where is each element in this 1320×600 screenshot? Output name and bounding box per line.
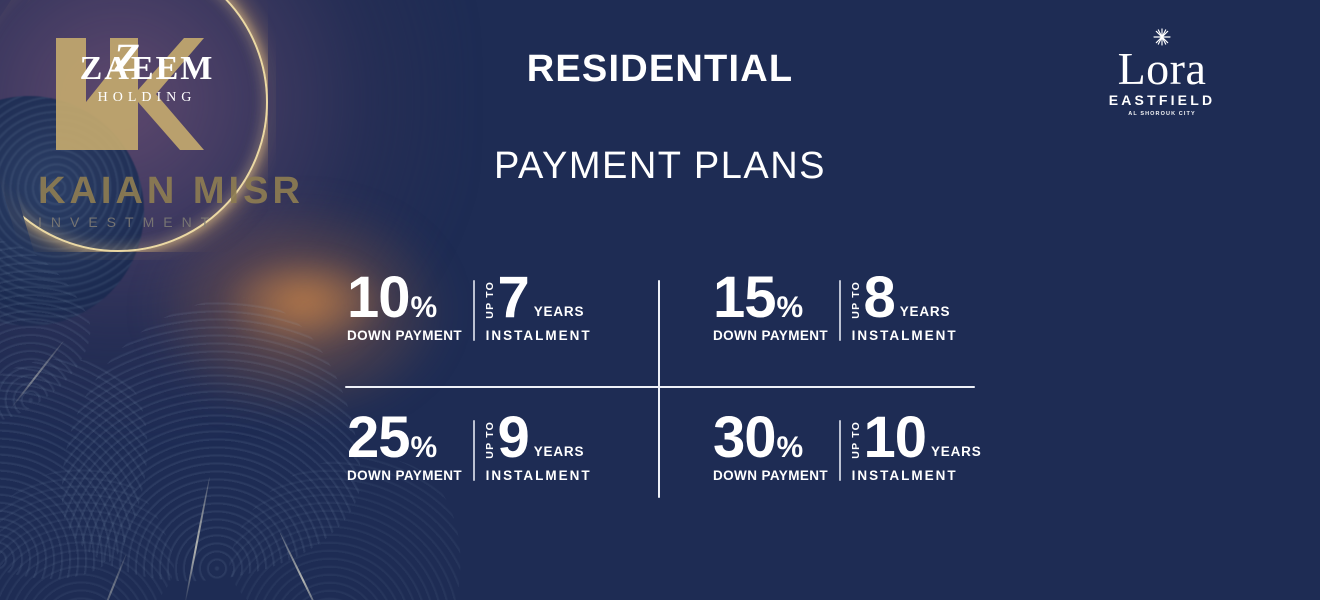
up-to-label: UP TO <box>486 281 495 319</box>
palm-leaf-icon <box>0 450 185 600</box>
project-location: AL SHOROUK CITY <box>1072 111 1252 117</box>
down-payment-value: 25 % <box>347 414 462 463</box>
project-logo-lora-eastfield: Lora EASTFIELD AL SHOROUK CITY <box>1072 28 1252 117</box>
leaf-stem <box>10 341 64 410</box>
down-payment-label: DOWN PAYMENT <box>347 328 462 343</box>
kaian-misr-sub: INVESTMENT <box>38 214 288 230</box>
down-payment-percent: 30 <box>713 414 776 463</box>
percent-sign: % <box>777 435 804 460</box>
palm-leaf-icon <box>0 214 113 449</box>
payment-plans-slide: Z ZAEEM HOLDING KAIAN MISR INVESTMENT RE… <box>0 0 1320 600</box>
instalment-value: UP TO 10 YEARS <box>852 414 982 463</box>
down-payment-label: DOWN PAYMENT <box>713 468 828 483</box>
years-word: YEARS <box>534 306 585 317</box>
down-payment-block: 15 % DOWN PAYMENT <box>713 274 828 343</box>
down-payment-value: 30 % <box>713 414 828 463</box>
leaf-stem <box>279 532 323 600</box>
down-payment-block: 10 % DOWN PAYMENT <box>347 274 462 343</box>
card-inner-divider <box>473 280 475 341</box>
payment-plan-card[interactable]: 10 % DOWN PAYMENT UP TO 7 YEARS INSTALME… <box>347 274 592 343</box>
zaeem-sub: HOLDING <box>62 90 232 106</box>
instalment-block: UP TO 9 YEARS INSTALMENT <box>486 414 592 483</box>
leaf-stem <box>99 554 127 600</box>
instalment-label: INSTALMENT <box>486 328 592 343</box>
instalment-label: INSTALMENT <box>852 468 982 483</box>
up-to-label: UP TO <box>852 281 861 319</box>
instalment-years: 8 <box>863 274 894 323</box>
up-to-label: UP TO <box>486 421 495 459</box>
project-sub-name: EASTFIELD <box>1072 92 1252 108</box>
instalment-years: 10 <box>863 414 926 463</box>
instalment-value: UP TO 8 YEARS <box>852 274 958 323</box>
down-payment-percent: 25 <box>347 414 410 463</box>
years-word: YEARS <box>931 446 982 457</box>
down-payment-value: 10 % <box>347 274 462 323</box>
grid-divider-vertical <box>658 280 660 498</box>
card-inner-divider <box>473 420 475 481</box>
years-word: YEARS <box>900 306 951 317</box>
down-payment-label: DOWN PAYMENT <box>713 328 828 343</box>
down-payment-percent: 10 <box>347 274 410 323</box>
down-payment-percent: 15 <box>713 274 776 323</box>
instalment-value: UP TO 7 YEARS <box>486 274 592 323</box>
instalment-years: 7 <box>497 274 528 323</box>
instalment-value: UP TO 9 YEARS <box>486 414 592 463</box>
payment-plan-card[interactable]: 30 % DOWN PAYMENT UP TO 10 YEARS INSTALM… <box>713 414 982 483</box>
years-word: YEARS <box>534 446 585 457</box>
instalment-label: INSTALMENT <box>486 468 592 483</box>
page-subtitle: PAYMENT PLANS <box>0 145 1320 188</box>
instalment-years: 9 <box>497 414 528 463</box>
instalment-block: UP TO 10 YEARS INSTALMENT <box>852 414 982 483</box>
leaf-stem <box>183 477 210 600</box>
card-inner-divider <box>839 420 841 481</box>
percent-sign: % <box>411 295 438 320</box>
palm-leaf-icon <box>0 313 187 600</box>
instalment-block: UP TO 7 YEARS INSTALMENT <box>486 274 592 343</box>
instalment-block: UP TO 8 YEARS INSTALMENT <box>852 274 958 343</box>
palm-leaf-icon <box>49 290 368 590</box>
project-name: Lora <box>1072 47 1252 91</box>
down-payment-value: 15 % <box>713 274 828 323</box>
payment-plans-grid: 10 % DOWN PAYMENT UP TO 7 YEARS INSTALME… <box>345 268 975 508</box>
up-to-label: UP TO <box>852 421 861 459</box>
grid-divider-horizontal <box>345 386 975 388</box>
payment-plan-card[interactable]: 15 % DOWN PAYMENT UP TO 8 YEARS INSTALME… <box>713 274 958 343</box>
down-payment-block: 30 % DOWN PAYMENT <box>713 414 828 483</box>
down-payment-label: DOWN PAYMENT <box>347 468 462 483</box>
down-payment-block: 25 % DOWN PAYMENT <box>347 414 462 483</box>
card-inner-divider <box>839 280 841 341</box>
percent-sign: % <box>411 435 438 460</box>
instalment-label: INSTALMENT <box>852 328 958 343</box>
percent-sign: % <box>777 295 804 320</box>
payment-plan-card[interactable]: 25 % DOWN PAYMENT UP TO 9 YEARS INSTALME… <box>347 414 592 483</box>
